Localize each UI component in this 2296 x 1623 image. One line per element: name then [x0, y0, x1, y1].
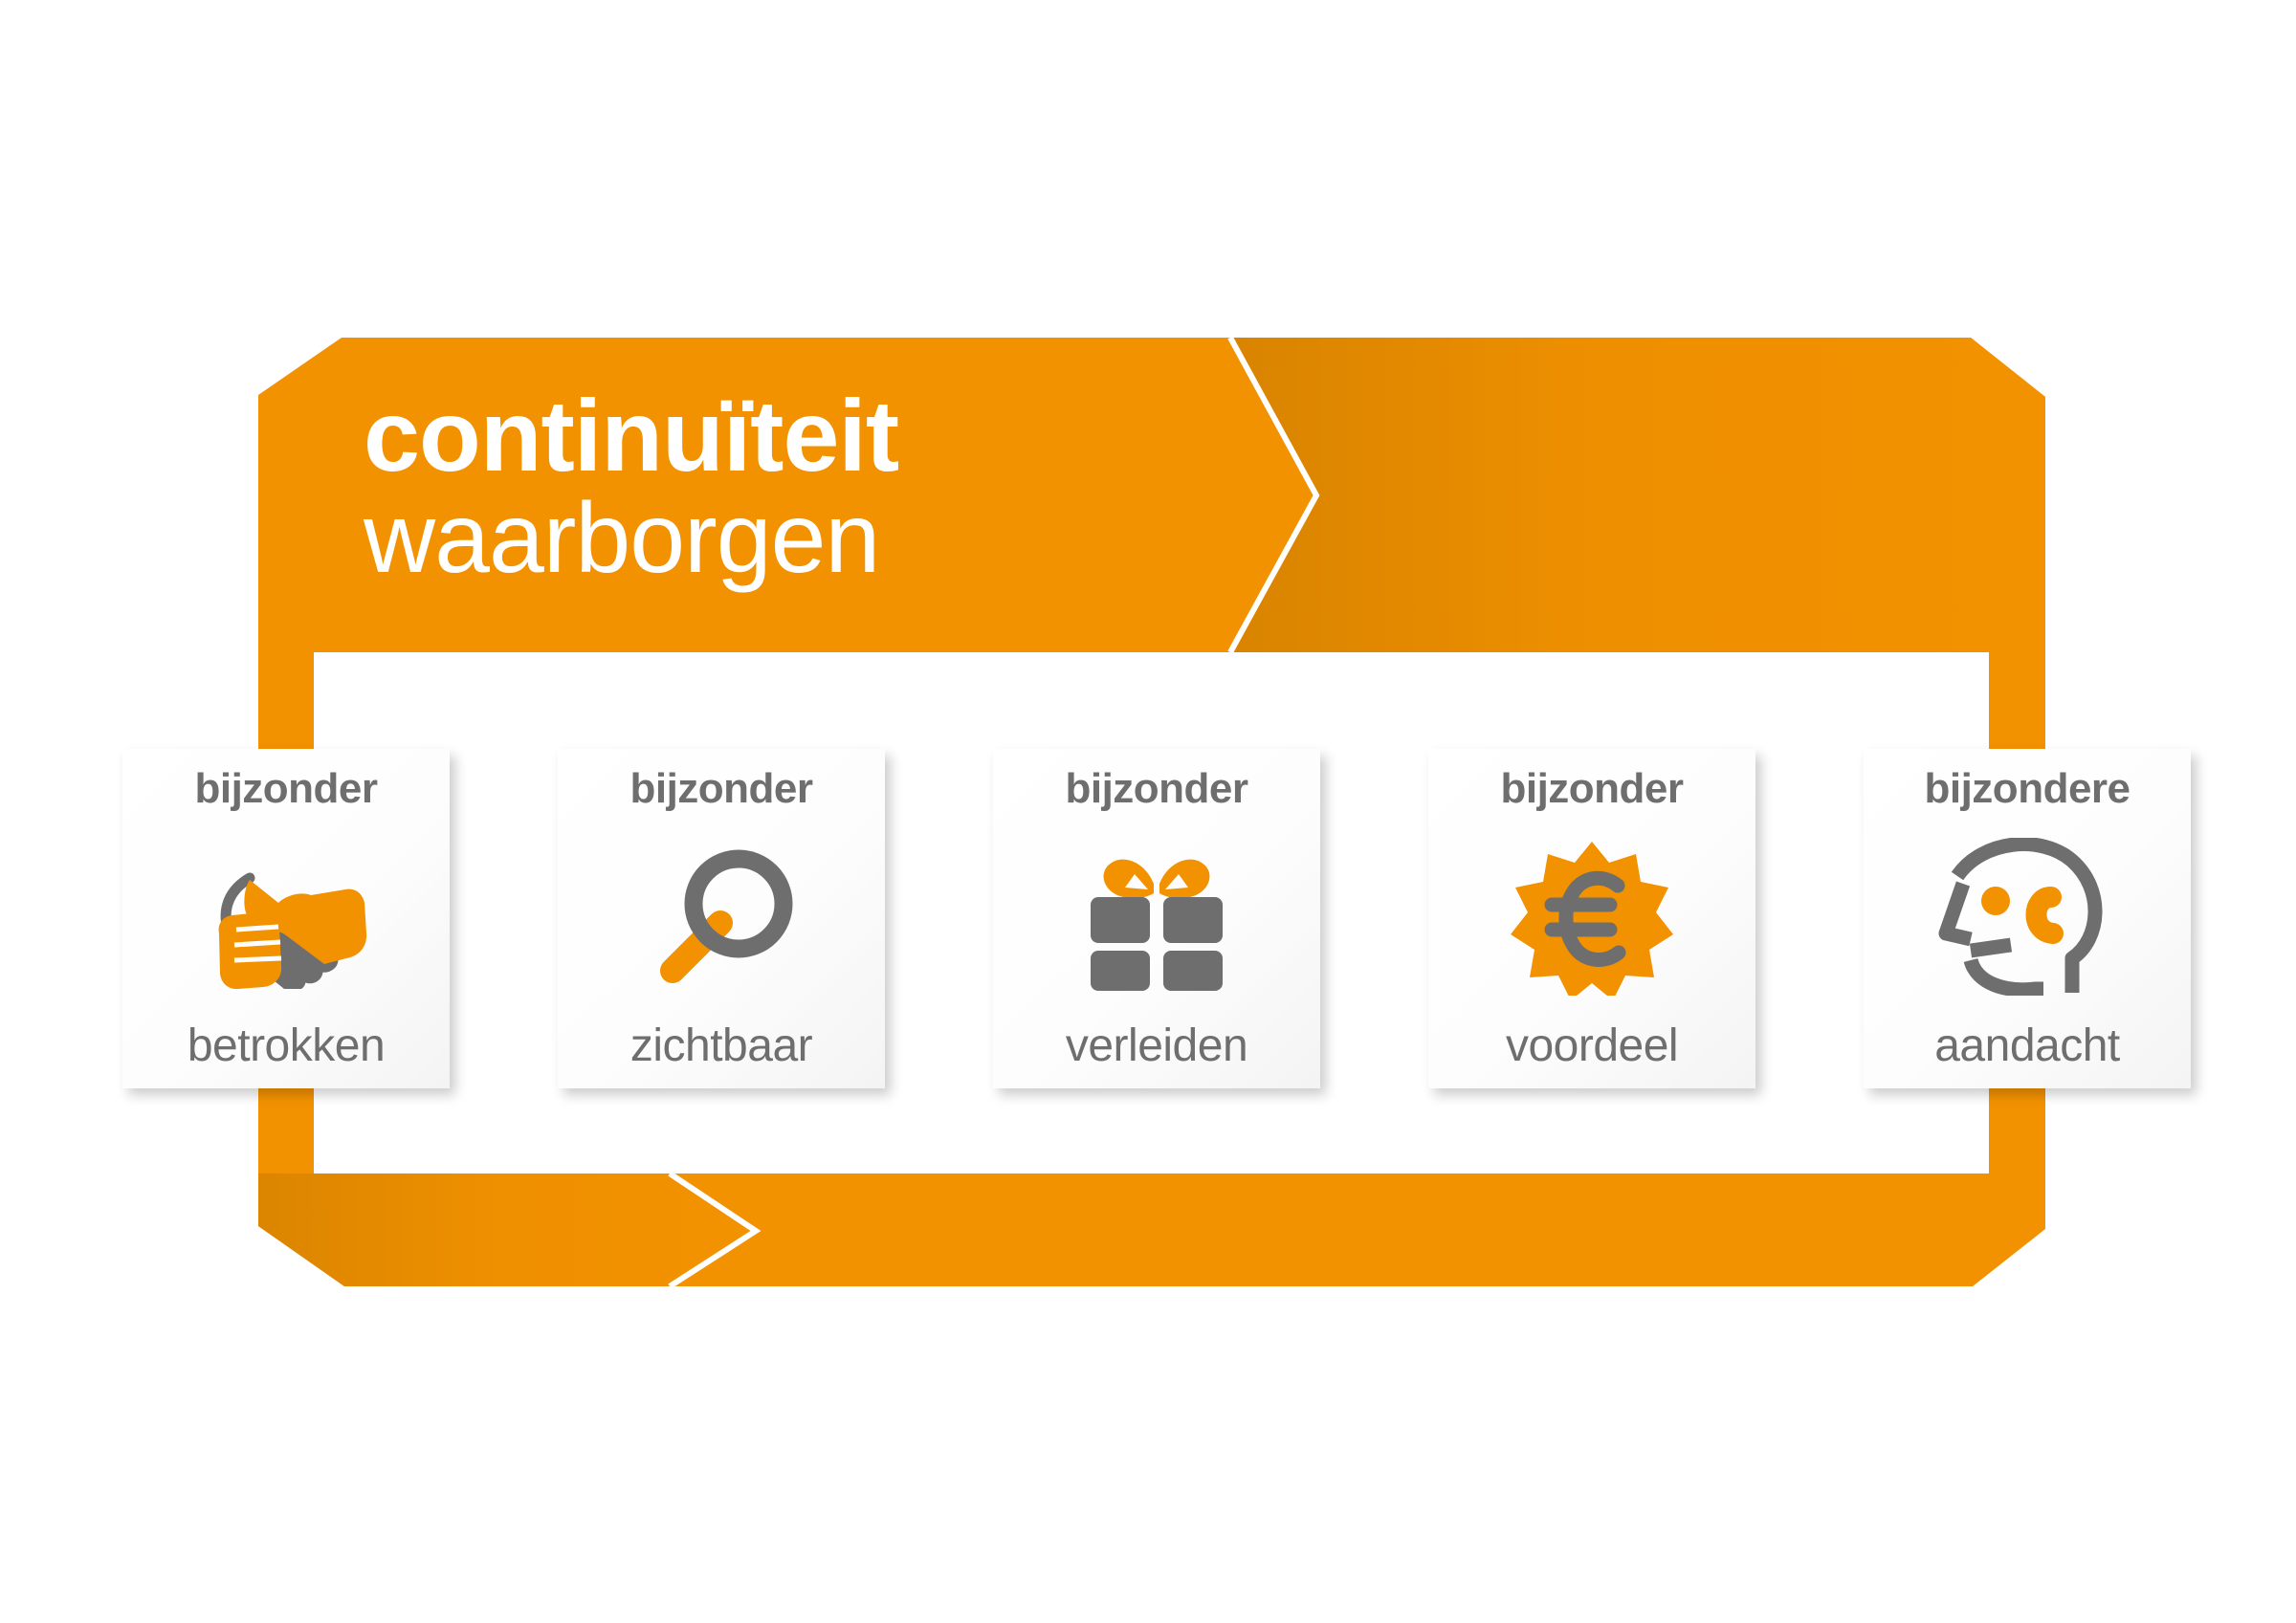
card-top-label: bijzondere: [1924, 768, 2130, 810]
card-top-label: bijzonder: [194, 768, 377, 810]
head-profile-icon: [1864, 810, 2191, 1023]
top-bar-chevron-fill: [1234, 338, 2045, 652]
value-cards-row: bijzonder betrokken: [122, 749, 2191, 1088]
handshake-icon: [122, 810, 450, 1023]
card-bottom-label: zichtbaar: [630, 1023, 812, 1088]
bottom-bar-chevron-fill: [258, 1173, 756, 1286]
card-bottom-label: voordeel: [1506, 1023, 1678, 1088]
magnifier-icon: [558, 810, 885, 1023]
card-top-label: bijzonder: [1065, 768, 1247, 810]
card-bottom-label: aandacht: [1934, 1023, 2120, 1088]
card-betrokken[interactable]: bijzonder betrokken: [122, 749, 450, 1088]
card-voordeel[interactable]: bijzonder voordeel: [1428, 749, 1755, 1088]
euro-starburst-icon: [1428, 810, 1755, 1023]
gift-box-icon: [993, 810, 1320, 1023]
card-verleiden[interactable]: bijzonder verleiden: [993, 749, 1320, 1088]
heading-line-light: waarborgen: [364, 491, 1091, 588]
infographic-canvas: continuïteit waarborgen bijzonder: [0, 0, 2296, 1623]
card-bottom-label: verleiden: [1066, 1023, 1247, 1088]
card-bottom-label: betrokken: [188, 1023, 385, 1088]
card-zichtbaar[interactable]: bijzonder zichtbaar: [558, 749, 885, 1088]
banner-heading: continuïteit waarborgen: [364, 387, 1091, 588]
card-aandacht[interactable]: bijzondere aandacht: [1864, 749, 2191, 1088]
heading-line-bold: continuïteit: [364, 387, 1091, 487]
card-top-label: bijzonder: [629, 768, 812, 810]
card-top-label: bijzonder: [1500, 768, 1683, 810]
